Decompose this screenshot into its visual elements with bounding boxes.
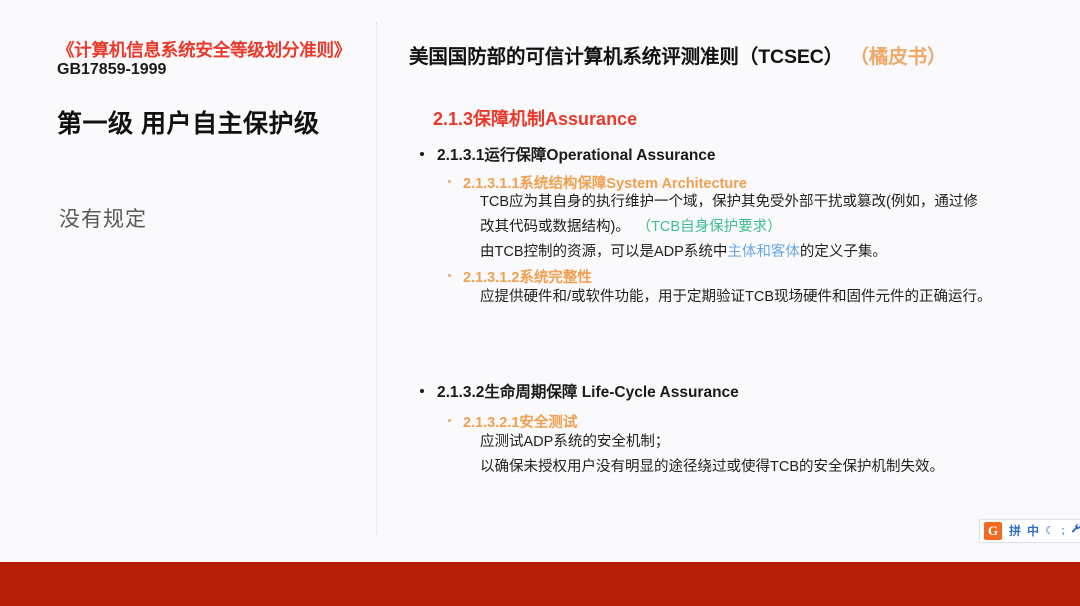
punctuation-icon[interactable]: ⁏ (1058, 522, 1068, 540)
ime-toolbar[interactable]: G 拼 中 ☾ ⁏ (979, 519, 1080, 543)
left-panel-content: 没有规定 (59, 203, 147, 233)
level-title: 第一级 用户自主保护级 (57, 104, 319, 140)
right-panel: 美国国防部的可信计算机系统评测准则（TCSEC）（橘皮书） 2.1.3保障机制A… (376, 0, 1080, 562)
main-title-text: 美国国防部的可信计算机系统评测准则（TCSEC） (409, 46, 843, 68)
section-heading: 2.1.3保障机制Assurance (433, 105, 637, 131)
ime-input-mode-button[interactable]: 拼 (1006, 522, 1024, 540)
moon-icon[interactable]: ☾ (1042, 522, 1058, 540)
body-line: 由TCB控制的资源，可以是ADP系统中主体和客体的定义子集。 (480, 240, 978, 265)
body-line-text: 由TCB控制的资源，可以是ADP系统中 (480, 244, 727, 260)
system-integrity-body: 应提供硬件和/或软件功能，用于定期验证TCB现场硬件和固件元件的正确运行。 (480, 285, 992, 310)
body-line: 应提供硬件和/或软件功能，用于定期验证TCB现场硬件和固件元件的正确运行。 (480, 285, 992, 310)
left-panel: 《计算机信息系统安全等级划分准则》 GB17859-1999 第一级 用户自主保… (0, 0, 376, 562)
system-architecture-body: TCB应为其自身的执行维护一个域，保护其免受外部干扰或篡改(例如，通过修 改其代… (480, 190, 978, 265)
list-item-label: 2.1.3.1运行保障Operational Assurance (437, 143, 716, 165)
body-line: 应测试ADP系统的安全机制； (480, 430, 944, 455)
subject-object-highlight: 主体和客体 (727, 244, 800, 260)
bullet-icon (448, 419, 451, 422)
list-item-system-integrity: 2.1.3.1.2系统完整性 (448, 266, 592, 287)
list-item-security-testing: 2.1.3.2.1安全测试 (448, 411, 577, 432)
tcb-protection-note: （TCB自身保护要求） (644, 219, 782, 235)
bullet-icon (448, 274, 451, 277)
slide-canvas: 《计算机信息系统安全等级划分准则》 GB17859-1999 第一级 用户自主保… (0, 0, 1080, 562)
body-line-text: 的定义子集。 (800, 244, 887, 260)
standard-code: GB17859-1999 (57, 61, 166, 79)
main-title: 美国国防部的可信计算机系统评测准则（TCSEC）（橘皮书） (409, 40, 946, 69)
ime-logo-icon[interactable]: G (984, 522, 1002, 540)
body-line: 改其代码或数据结构)。（TCB自身保护要求） (480, 215, 978, 240)
ime-language-button[interactable]: 中 (1024, 522, 1042, 540)
main-title-suffix: （橘皮书） (859, 46, 946, 68)
list-item-label: 2.1.3.2.1安全测试 (463, 411, 577, 432)
list-item-lifecycle-assurance: 2.1.3.2生命周期保障 Life-Cycle Assurance (420, 380, 739, 402)
bullet-icon (420, 389, 424, 393)
list-item-operational-assurance: 2.1.3.1运行保障Operational Assurance (420, 143, 716, 165)
list-item-label: 2.1.3.1.2系统完整性 (463, 266, 592, 287)
bottom-accent-bar (0, 562, 1080, 606)
wrench-icon[interactable] (1068, 522, 1080, 540)
body-line-text: 改其代码或数据结构)。 (480, 219, 630, 235)
body-line: TCB应为其自身的执行维护一个域，保护其免受外部干扰或篡改(例如，通过修 (480, 190, 978, 215)
security-testing-body: 应测试ADP系统的安全机制； 以确保未授权用户没有明显的途径绕过或使得TCB的安… (480, 430, 944, 480)
list-item-label: 2.1.3.2生命周期保障 Life-Cycle Assurance (437, 380, 739, 402)
body-line: 以确保未授权用户没有明显的途径绕过或使得TCB的安全保护机制失效。 (480, 455, 944, 480)
bullet-icon (420, 152, 424, 156)
standard-title: 《计算机信息系统安全等级划分准则》 (57, 37, 351, 62)
bullet-icon (448, 180, 451, 183)
